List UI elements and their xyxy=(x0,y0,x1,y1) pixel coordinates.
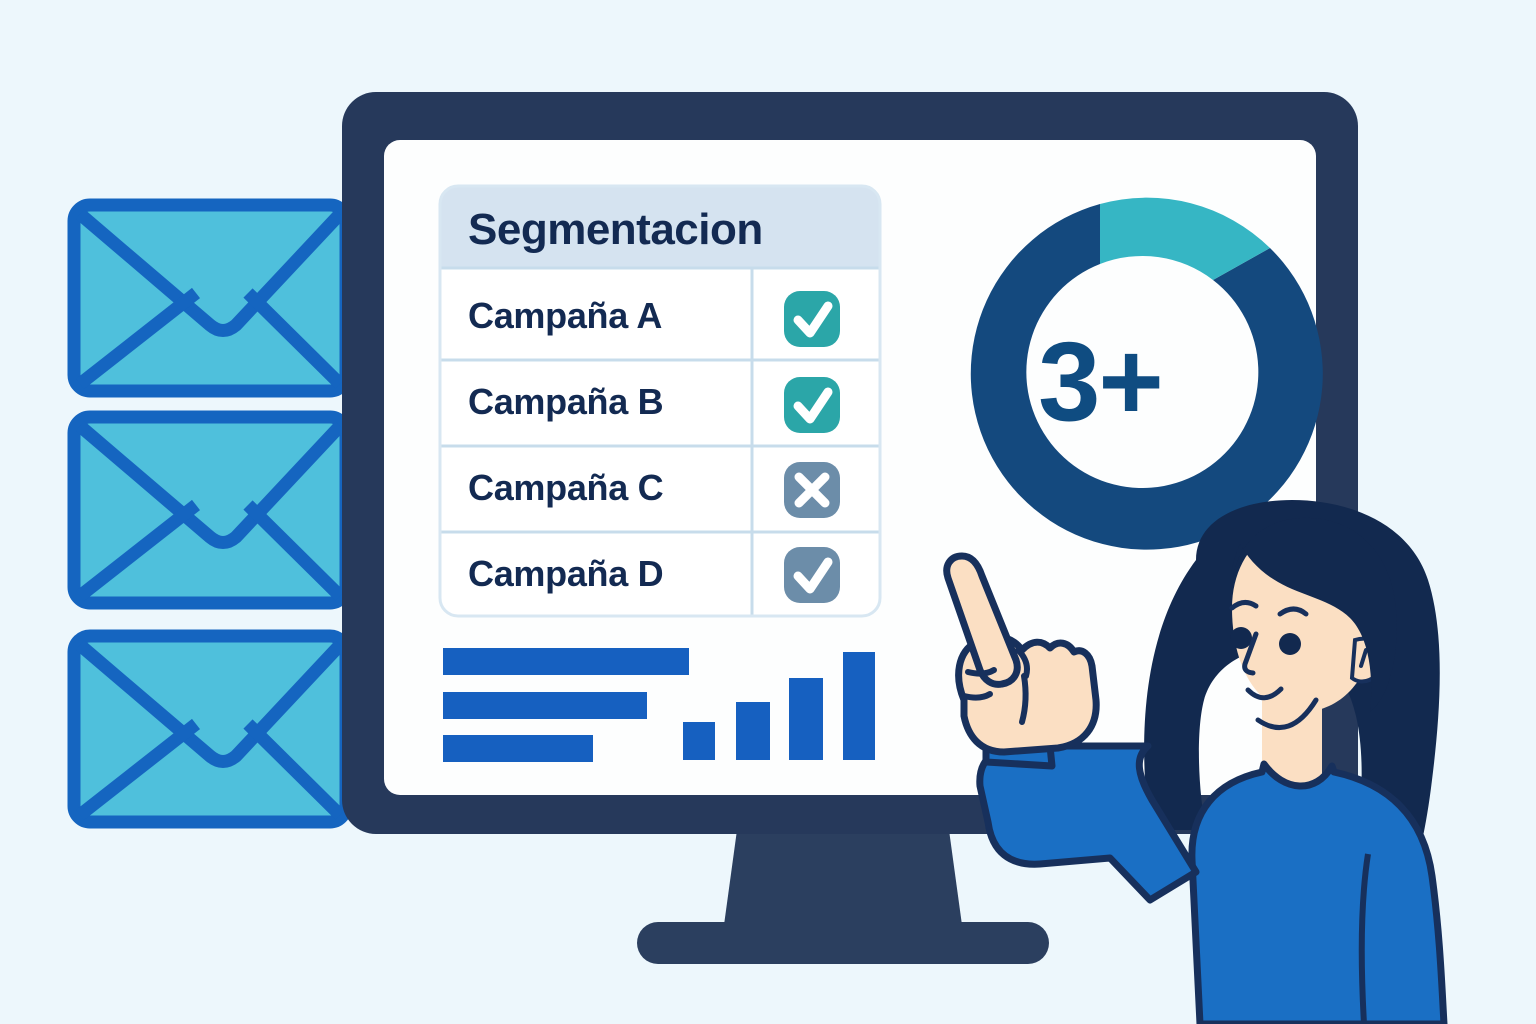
presenter-figure xyxy=(0,0,1536,1024)
illustration-canvas: Segmentacion Campaña A Campaña B Campaña… xyxy=(0,0,1536,1024)
eye-right xyxy=(1279,633,1301,655)
thumb-crease xyxy=(1022,676,1026,722)
pointing-hand xyxy=(947,556,1096,752)
eye-left xyxy=(1230,627,1252,649)
